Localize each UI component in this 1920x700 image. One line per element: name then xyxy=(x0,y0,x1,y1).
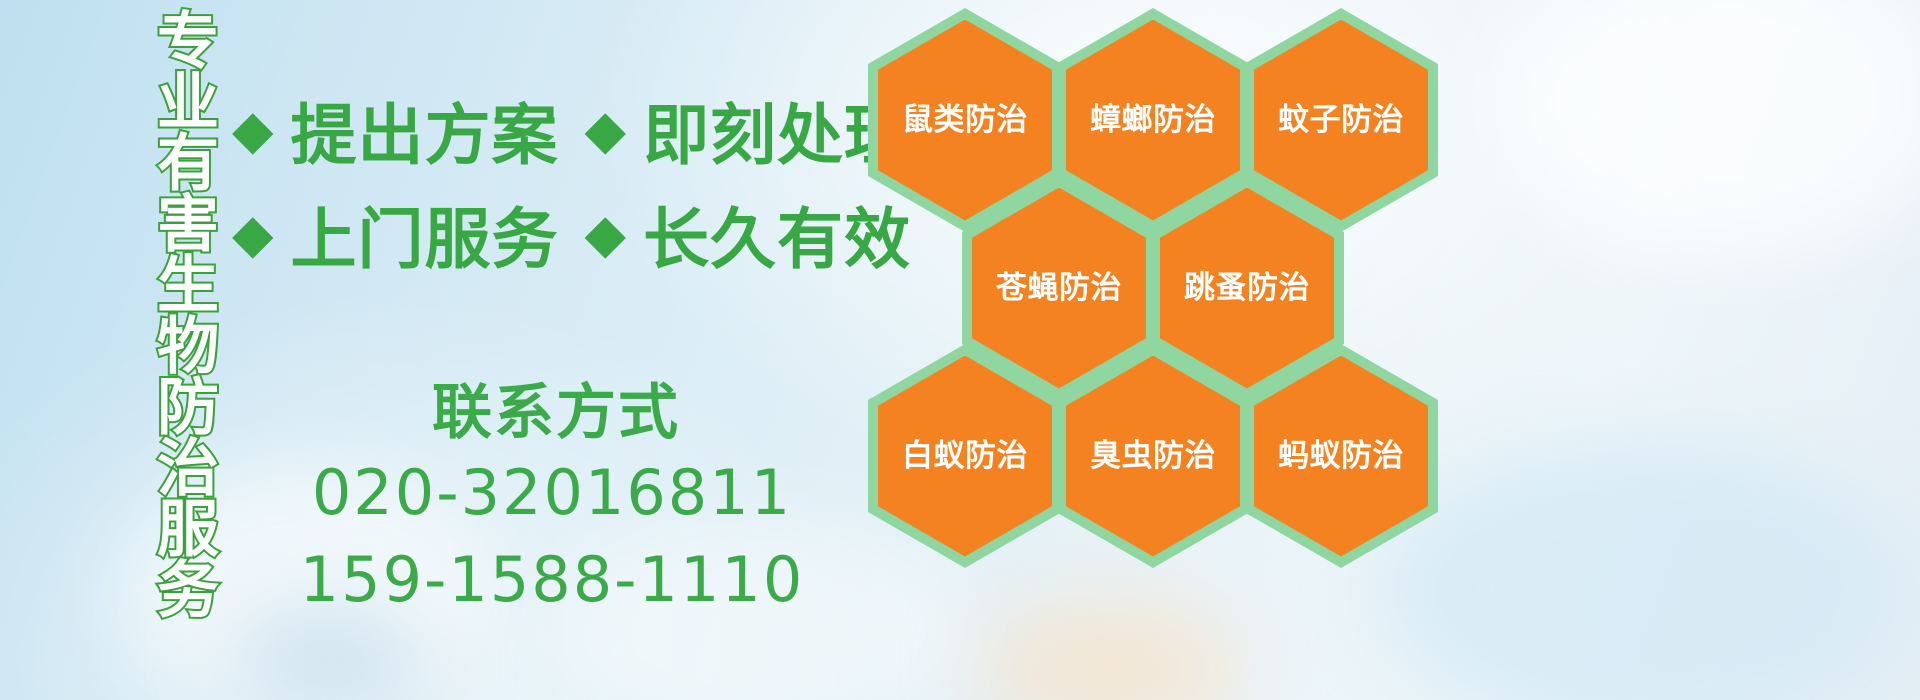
contact-block: 联系方式 020-32016811 159-1588-1110 xyxy=(232,382,872,620)
vertical-headline: 专业有害生物防治服务 xyxy=(106,8,214,568)
service-hex-label: 蚂蚁防治 xyxy=(1278,441,1404,472)
service-hex-fill: 白蚁防治 xyxy=(878,356,1052,557)
diamond-bullet-icon: ◆ xyxy=(585,103,628,157)
service-hex-fill: 苍蝇防治 xyxy=(972,188,1146,389)
service-hex-fill: 臭虫防治 xyxy=(1066,356,1240,557)
services-honeycomb: 鼠类防治 蟑螂防治 蚊子防治 苍蝇防治 跳蚤防治 白蚁防 xyxy=(862,0,1442,580)
service-hex-label: 臭虫防治 xyxy=(1090,441,1216,472)
benefit-row: ◆ 上门服务 ◆ 长久有效 xyxy=(232,182,872,286)
service-hex-label: 跳蚤防治 xyxy=(1184,273,1310,304)
background-bloom xyxy=(980,600,1240,700)
service-hex-label: 苍蝇防治 xyxy=(996,273,1122,304)
benefit-row: ◆ 提出方案 ◆ 即刻处理 xyxy=(232,78,872,182)
service-hex-fill: 鼠类防治 xyxy=(878,20,1052,221)
diamond-bullet-icon: ◆ xyxy=(232,207,275,261)
benefit-label: 提出方案 xyxy=(291,82,559,178)
benefits-list: ◆ 提出方案 ◆ 即刻处理 ◆ 上门服务 ◆ 长久有效 xyxy=(232,78,872,286)
banner-root: 专业有害生物防治服务 ◆ 提出方案 ◆ 即刻处理 ◆ 上门服务 ◆ 长久有效 联… xyxy=(0,0,1920,700)
service-hex-fill: 跳蚤防治 xyxy=(1160,188,1334,389)
phone-number-secondary[interactable]: 159-1588-1110 xyxy=(232,540,872,619)
diamond-bullet-icon: ◆ xyxy=(585,207,628,261)
background-bloom xyxy=(1500,0,1920,260)
service-hex-label: 白蚁防治 xyxy=(902,441,1028,472)
service-hex-label: 鼠类防治 xyxy=(902,105,1028,136)
benefit-label: 上门服务 xyxy=(291,186,559,282)
service-hex-fill: 蚊子防治 xyxy=(1254,20,1428,221)
diamond-bullet-icon: ◆ xyxy=(232,103,275,157)
phone-number-primary[interactable]: 020-32016811 xyxy=(232,453,872,532)
service-hex-label: 蚊子防治 xyxy=(1278,105,1404,136)
service-hex-fill: 蟑螂防治 xyxy=(1066,20,1240,221)
service-hex-label: 蟑螂防治 xyxy=(1090,105,1216,136)
service-hex-fill: 蚂蚁防治 xyxy=(1254,356,1428,557)
background-bloom xyxy=(1380,440,1900,700)
contact-title: 联系方式 xyxy=(240,382,872,445)
